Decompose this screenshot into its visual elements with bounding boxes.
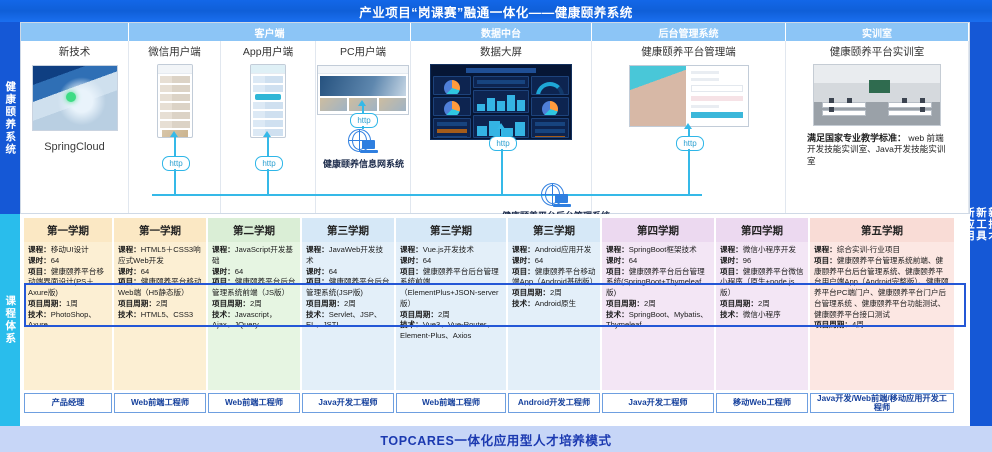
course-line: 项目：健康颐养平台后台管理系统(SpringBoot+Thymeleaf版) (606, 267, 710, 299)
course-line: 项目周期：4周 (814, 320, 950, 331)
course-line-label: 项目周期： (606, 299, 644, 308)
course-line: 课时：64 (606, 256, 710, 267)
course-line: 课程：Android应用开发 (512, 245, 596, 256)
course-line-value: 64 (535, 256, 543, 265)
job-role-3[interactable]: Web前端工程师 (208, 393, 300, 413)
course-line-label: 技术： (400, 320, 423, 329)
course-line-label: 项目： (118, 277, 141, 286)
arch-col-app: App用户端 http (221, 41, 316, 213)
semester-header-1: 第一学期 (24, 218, 112, 242)
arch-caption-admin: 健康颐养平台管理端 (641, 46, 736, 59)
course-line-label: 技术： (512, 299, 535, 308)
architecture-panel: 客户端 数据中台 后台管理系统 实训室 新技术 SpringCloud 微信用户… (20, 22, 970, 214)
course-line: 技术：HTML5、CSS3 (118, 310, 202, 321)
course-line-label: 课程： (512, 245, 535, 254)
course-line-value: SpringBoot框架技术 (629, 245, 697, 254)
course-line: 技术：Servlet、JSP、EL、JSTL (306, 310, 390, 332)
arch-header-backend: 后台管理系统 (592, 23, 786, 41)
course-line: 课程：综合实训-行业项目 (814, 245, 950, 256)
sidebar-left-curriculum: 课程体系 (0, 214, 20, 426)
course-line: 项目周期：2周 (400, 310, 502, 321)
course-line-label: 项目周期： (512, 288, 550, 297)
course-line-value: 2周 (344, 299, 356, 308)
semester-header-9: 第五学期 (810, 218, 954, 242)
course-line: 项目：健康颐养平台移动端界面设计(PS＋Axure版) (28, 267, 108, 299)
curriculum-panel: 第一学期课程：移动UI设计课时：64项目：健康颐养平台移动端界面设计(PS＋Ax… (20, 214, 970, 426)
course-line: 课时：64 (28, 256, 108, 267)
semester-header-6: 第三学期 (508, 218, 600, 242)
course-line: 课程：微信小程序开发 (720, 245, 804, 256)
course-line: 项目周期：2周 (512, 288, 596, 299)
course-line-value: 64 (629, 256, 637, 265)
course-line-label: 项目： (400, 267, 423, 276)
arch-col-newtech: 新技术 SpringCloud (21, 41, 129, 213)
backend-globe-icon (541, 183, 571, 207)
curriculum-column-9: 第五学期课程：综合实训-行业项目项目：健康颐养平台管理系统前端、健康颐养平台后台… (810, 218, 954, 413)
course-detail-1: 课程：移动UI设计课时：64项目：健康颐养平台移动端界面设计(PS＋Axure版… (24, 242, 112, 390)
course-line: 项目：健康颐养平台移动端App（Android基础版） (512, 267, 596, 289)
course-line-label: 课时： (512, 256, 535, 265)
course-line: 项目：健康颐养平台微信小程序（原生+node.js版） (720, 267, 804, 299)
course-line-label: 技术： (606, 310, 629, 319)
course-line: 项目周期：2周 (720, 299, 804, 310)
course-line-value: 64 (51, 256, 59, 265)
lab-room-photo (813, 64, 941, 126)
course-line-label: 技术： (306, 310, 329, 319)
course-line-value: 64 (329, 267, 337, 276)
semester-header-4: 第三学期 (302, 218, 394, 242)
course-line-label: 课时： (118, 267, 141, 276)
lab-standard-note: 满足国家专业教学标准： web 前端开发技能实训室、Java开发技能实训室 (807, 132, 947, 168)
sidebar-right-keywords: 新理论 新技术 新工具 新应用 新产品 (970, 22, 992, 426)
course-line: 课程：HTML5＋CSS3响应式Web开发 (118, 245, 202, 267)
sidebar-right-item-2: 新工具 (975, 207, 987, 242)
course-line-label: 课程： (606, 245, 629, 254)
sidebar-left-system: 健康颐养系统 (0, 22, 20, 214)
arch-col-admin: 健康颐养平台管理端 http (592, 41, 786, 213)
course-line-value: 综合实训-行业项目 (837, 245, 900, 254)
course-line-label: 课时： (212, 267, 235, 276)
sidebar-left-system-label: 健康颐养系统 (5, 81, 16, 156)
course-line: 技术：Javascript，Ajax、JQuery (212, 310, 296, 332)
course-line-value: HTML5、CSS3 (141, 310, 193, 319)
curriculum-column-6: 第三学期课程：Android应用开发课时：64项目：健康颐养平台移动端App（A… (508, 218, 600, 413)
curriculum-column-2: 第一学期课程：HTML5＋CSS3响应式Web开发课时：64项目：健康颐养平台移… (114, 218, 206, 413)
wechat-phone-mock (157, 64, 193, 138)
job-role-8[interactable]: 移动Web工程师 (716, 393, 808, 413)
course-line-label: 课程： (400, 245, 423, 254)
course-line-value: Android应用开发 (535, 245, 592, 254)
poster-root: 产业项目“岗课赛”融通一体化——健康颐养系统 健康颐养系统 课程体系 新理论 新… (0, 0, 992, 452)
course-detail-4: 课程：JavaWeb开发技术课时：64项目：健康颐养平台后台管理系统(JSP版)… (302, 242, 394, 390)
course-line-label: 课时： (28, 256, 51, 265)
course-line-label: 项目： (512, 267, 535, 276)
arch-header-client: 客户端 (129, 23, 411, 41)
arch-header-lab: 实训室 (786, 23, 969, 41)
page-title: 产业项目“岗课赛”融通一体化——健康颐养系统 (359, 2, 633, 21)
course-line: 项目周期：2周 (118, 299, 202, 310)
semester-header-2: 第一学期 (114, 218, 206, 242)
lab-note-title: 满足国家专业教学标准： (807, 133, 906, 143)
bottom-banner-label: TOPCARES一体化应用型人才培养模式 (380, 430, 611, 449)
course-line-label: 项目周期： (306, 299, 344, 308)
course-line-label: 技术： (118, 310, 141, 319)
course-line: 课时：64 (118, 267, 202, 278)
springcloud-label: SpringCloud (44, 141, 105, 153)
course-line: 项目：健康颐养平台移动Web端（H5静态版） (118, 277, 202, 299)
course-line: 课时：64 (512, 256, 596, 267)
backend-bus-line (152, 194, 702, 196)
course-line-label: 项目： (606, 267, 629, 276)
arch-col-lab: 健康颐养平台实训室 满足国家专业教学标准： web 前端开发技能 (786, 41, 969, 213)
course-line-value: 2周 (550, 288, 562, 297)
course-line-value: Vue.js开发技术 (423, 245, 474, 254)
course-line-value: 4周 (852, 320, 864, 329)
course-detail-7: 课程：SpringBoot框架技术课时：64项目：健康颐养平台后台管理系统(Sp… (602, 242, 714, 390)
course-line: 项目周期：1周 (28, 299, 108, 310)
course-line-label: 课程： (814, 245, 837, 254)
course-detail-9: 课程：综合实训-行业项目项目：健康颐养平台管理系统前端、健康颐养平台后台管理系统… (810, 242, 954, 390)
course-line: 项目周期：2周 (306, 299, 390, 310)
course-line: 课程：JavaScript开发基础 (212, 245, 296, 267)
course-line-value: 2周 (250, 299, 262, 308)
course-line-value: 微信小程序开发 (743, 245, 796, 254)
curriculum-table: 第一学期课程：移动UI设计课时：64项目：健康颐养平台移动端界面设计(PS＋Ax… (24, 218, 966, 413)
job-role-2[interactable]: Web前端工程师 (114, 393, 206, 413)
course-line: 课程：SpringBoot框架技术 (606, 245, 710, 256)
curriculum-column-3: 第二学期课程：JavaScript开发基础课时：64项目：健康颐养平台后台管理系… (208, 218, 300, 413)
course-line-label: 课时： (606, 256, 629, 265)
arch-caption-datascreen: 数据大屏 (480, 46, 522, 59)
semester-header-8: 第四学期 (716, 218, 808, 242)
page-title-bar: 产业项目“岗课赛”融通一体化——健康颐养系统 (0, 0, 992, 22)
semester-header-3: 第二学期 (208, 218, 300, 242)
curriculum-column-1: 第一学期课程：移动UI设计课时：64项目：健康颐养平台移动端界面设计(PS＋Ax… (24, 218, 112, 413)
course-line-label: 项目： (720, 267, 743, 276)
curriculum-column-7: 第四学期课程：SpringBoot框架技术课时：64项目：健康颐养平台后台管理系… (602, 218, 714, 413)
laptop-photo (32, 65, 118, 131)
curriculum-column-8: 第四学期课程：微信小程序开发课时：96项目：健康颐养平台微信小程序（原生+nod… (716, 218, 808, 413)
course-line-value: 64 (235, 267, 243, 276)
course-line-label: 项目周期： (720, 299, 758, 308)
course-line-label: 课程： (306, 245, 329, 254)
job-role-7[interactable]: Java开发工程师 (602, 393, 714, 413)
course-line: 课时：64 (306, 267, 390, 278)
course-line-label: 项目周期： (814, 320, 852, 329)
course-line-value: 2周 (156, 299, 168, 308)
course-line-label: 课时： (720, 256, 743, 265)
course-line-label: 课程： (720, 245, 743, 254)
course-detail-2: 课程：HTML5＋CSS3响应式Web开发课时：64项目：健康颐养平台移动Web… (114, 242, 206, 390)
course-line-label: 项目周期： (28, 299, 66, 308)
architecture-header-row: 客户端 数据中台 后台管理系统 实训室 (21, 23, 969, 41)
course-line-value: 96 (743, 256, 751, 265)
course-line-label: 项目： (306, 277, 329, 286)
http-badge-pc: http (350, 113, 378, 128)
arch-caption-wechat: 微信用户端 (148, 46, 201, 59)
course-line-label: 课程： (212, 245, 235, 254)
job-role-9[interactable]: Java开发/Web前端/移动应用开发工程师 (810, 393, 954, 413)
job-role-1[interactable]: 产品经理 (24, 393, 112, 413)
course-line: 项目：健康颐养平台管理系统前端、健康颐养平台后台管理系统、健康颐养平台用户端Ap… (814, 256, 950, 321)
sidebar-left-curriculum-label: 课程体系 (5, 295, 16, 345)
course-line-value: 2周 (438, 310, 450, 319)
course-line-value: 1周 (66, 299, 78, 308)
admin-login-mock (629, 65, 749, 127)
course-line: 课程：Vue.js开发技术 (400, 245, 502, 256)
course-line-label: 项目： (814, 256, 837, 265)
course-line: 技术：PhotoShop、Axure (28, 310, 108, 332)
job-role-4[interactable]: Java开发工程师 (302, 393, 394, 413)
bottom-banner: TOPCARES一体化应用型人才培养模式 (0, 426, 992, 452)
course-line-label: 项目周期： (212, 299, 250, 308)
course-line: 项目：健康颐养平台后台管理系统前端（JS版） (212, 277, 296, 299)
arch-caption-newtech: 新技术 (59, 46, 91, 59)
course-line: 课程：JavaWeb开发技术 (306, 245, 390, 267)
course-line-value: 微信小程序 (743, 310, 781, 319)
arch-header-newtech (21, 23, 129, 41)
course-line: 技术：微信小程序 (720, 310, 804, 321)
course-line: 课时：64 (400, 256, 502, 267)
course-line-label: 课程： (28, 245, 51, 254)
curriculum-column-4: 第三学期课程：JavaWeb开发技术课时：64项目：健康颐养平台后台管理系统(J… (302, 218, 394, 413)
course-line-label: 项目： (212, 277, 235, 286)
app-phone-mock (250, 64, 286, 138)
course-line: 项目周期：2周 (606, 299, 710, 310)
course-line-label: 项目周期： (118, 299, 156, 308)
course-line-value: 64 (141, 267, 149, 276)
course-detail-6: 课程：Android应用开发课时：64项目：健康颐养平台移动端App（Andro… (508, 242, 600, 390)
arch-col-pc: PC用户端 http 健康颐养信息网系统 (316, 41, 411, 213)
course-detail-8: 课程：微信小程序开发课时：96项目：健康颐养平台微信小程序（原生+node.js… (716, 242, 808, 390)
course-line-value: 健康颐养平台管理系统前端、健康颐养平台后台管理系统、健康颐养平台用户端App（A… (814, 256, 949, 319)
course-line: 技术：SpringBoot、Mybatis、Thymeleaf (606, 310, 710, 332)
course-line-label: 课程： (118, 245, 141, 254)
course-line: 项目：健康颐养平台后台管理系统(JSP版) (306, 277, 390, 299)
course-line: 项目周期：2周 (212, 299, 296, 310)
course-line: 技术：Android原生 (512, 299, 596, 310)
course-line-label: 技术： (212, 310, 235, 319)
course-detail-5: 课程：Vue.js开发技术课时：64项目：健康颐养平台后台管理系统前端（Elem… (396, 242, 506, 390)
sidebar-right-item-1: 新技术 (987, 207, 992, 242)
job-role-6[interactable]: Android开发工程师 (508, 393, 600, 413)
http-badge-app: http (255, 156, 283, 171)
arch-col-wechat: 微信用户端 http (129, 41, 221, 213)
course-line-label: 课时： (306, 267, 329, 276)
course-line: 课程：移动UI设计 (28, 245, 108, 256)
course-line: 课时：64 (212, 267, 296, 278)
http-badge-wechat: http (162, 156, 190, 171)
course-line-label: 项目周期： (400, 310, 438, 319)
semester-header-5: 第三学期 (396, 218, 506, 242)
course-line: 技术：Vue3、Vue-Router、Element-Plus、Axios (400, 320, 502, 342)
course-line-label: 技术： (720, 310, 743, 319)
course-detail-3: 课程：JavaScript开发基础课时：64项目：健康颐养平台后台管理系统前端（… (208, 242, 300, 390)
arch-header-data: 数据中台 (411, 23, 592, 41)
arch-caption-app: App用户端 (243, 46, 293, 59)
course-line-label: 课时： (400, 256, 423, 265)
network-globe-icon (348, 129, 378, 153)
semester-header-7: 第四学期 (602, 218, 714, 242)
course-line: 项目：健康颐养平台后台管理系统前端（ElementPlus+JSON-serve… (400, 267, 502, 310)
arch-caption-pc: PC用户端 (340, 46, 386, 59)
arch-caption-lab: 健康颐养平台实训室 (830, 46, 925, 59)
course-line: 课时：96 (720, 256, 804, 267)
course-line-label: 项目： (28, 267, 51, 276)
architecture-body: 新技术 SpringCloud 微信用户端 http (21, 41, 969, 213)
course-line-value: Android原生 (535, 299, 576, 308)
info-network-label: 健康颐养信息网系统 (316, 157, 411, 170)
http-badge-datascreen: http (489, 136, 517, 151)
course-line-value: 移动UI设计 (51, 245, 89, 254)
http-badge-admin: http (676, 136, 704, 151)
course-line-value: 2周 (644, 299, 656, 308)
course-line-value: 64 (423, 256, 431, 265)
course-line-value: 2周 (758, 299, 770, 308)
curriculum-column-5: 第三学期课程：Vue.js开发技术课时：64项目：健康颐养平台后台管理系统前端（… (396, 218, 506, 413)
course-line-label: 技术： (28, 310, 51, 319)
job-role-5[interactable]: Web前端工程师 (396, 393, 506, 413)
